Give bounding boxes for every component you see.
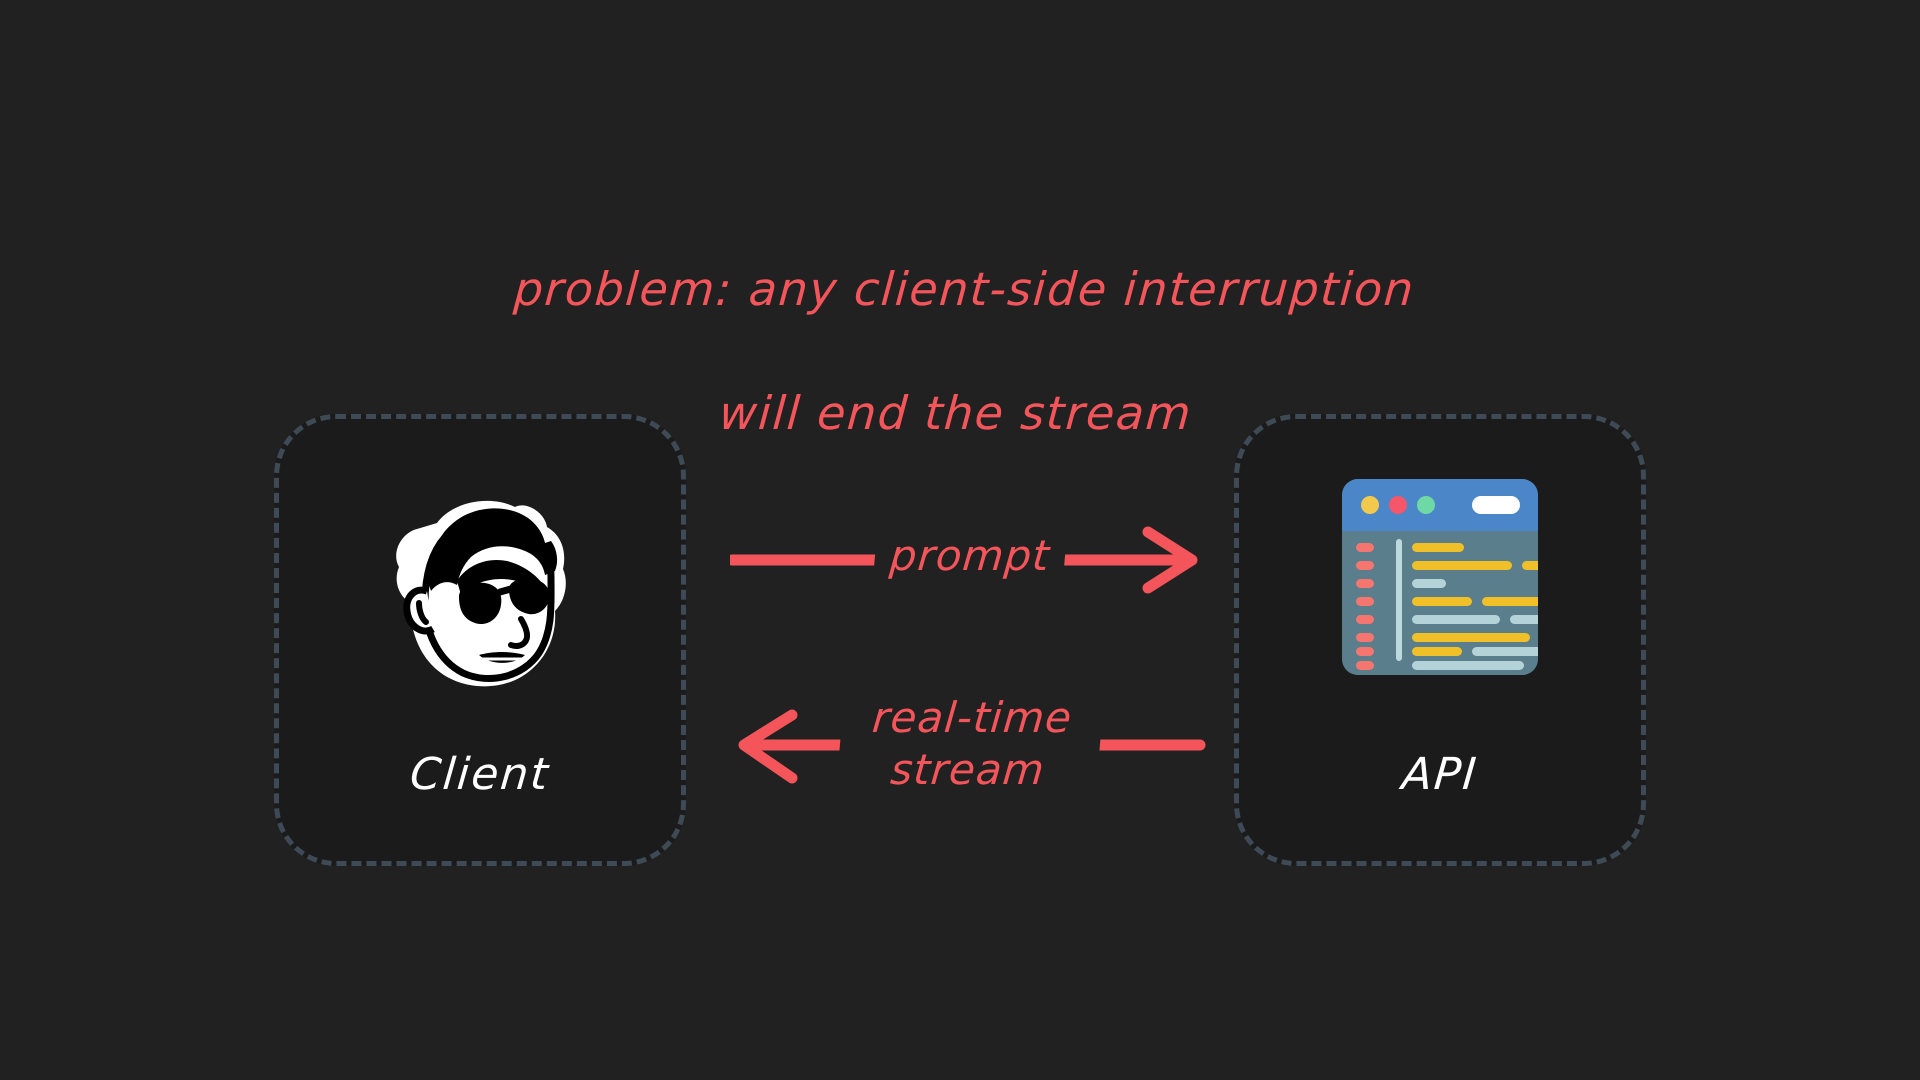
- diagram-canvas: problem: any client-side interruption wi…: [0, 0, 1920, 1080]
- node-api[interactable]: API: [1234, 414, 1646, 866]
- window-dot-green: [1417, 496, 1435, 514]
- window-dot-yellow: [1361, 496, 1379, 514]
- avatar-svg: [375, 479, 585, 699]
- code-window-icon: [1342, 479, 1538, 675]
- node-api-label: API: [1237, 749, 1643, 800]
- arrow-prompt-label: prompt: [873, 530, 1068, 582]
- person-sunglasses-avatar-icon: [375, 479, 585, 703]
- arrow-stream: real-time stream: [730, 690, 1210, 810]
- node-client-inner: Client: [279, 419, 681, 861]
- title-line-1: problem: any client-side interruption: [2, 258, 1920, 320]
- arrow-stream-label: real-time stream: [835, 692, 1104, 796]
- code-window-svg: [1342, 479, 1538, 675]
- arrow-prompt: prompt: [730, 510, 1210, 610]
- window-pill: [1472, 496, 1520, 514]
- node-client-label: Client: [277, 749, 683, 800]
- node-api-inner: API: [1239, 419, 1641, 861]
- code-gutter-line: [1396, 539, 1402, 661]
- node-client[interactable]: Client: [274, 414, 686, 866]
- window-dot-red: [1389, 496, 1407, 514]
